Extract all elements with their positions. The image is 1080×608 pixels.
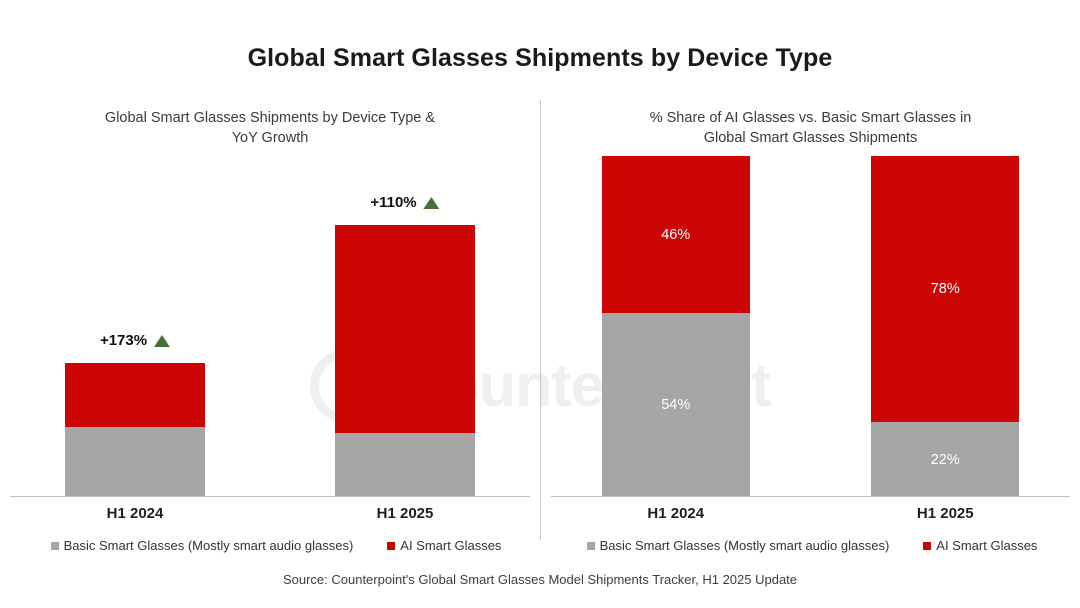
up-triangle-icon bbox=[154, 335, 170, 347]
bar-label-basic-share-2025: 22% bbox=[931, 452, 960, 468]
plot-area-shipments: +173% +110% bbox=[0, 145, 540, 497]
legend-shipments: Basic Smart Glasses (Mostly smart audio … bbox=[0, 538, 544, 553]
x-axis-line-share bbox=[551, 496, 1070, 497]
bar-segment-basic-2024[interactable] bbox=[65, 427, 205, 497]
x-axis-label-share-2024: H1 2024 bbox=[541, 505, 811, 522]
x-axis-label-2024: H1 2024 bbox=[0, 505, 270, 522]
up-triangle-icon bbox=[424, 197, 440, 209]
stacked-bar-share-2024[interactable]: 46% 54% bbox=[602, 156, 750, 497]
bar-segment-basic-2025[interactable] bbox=[335, 433, 475, 497]
growth-value-2025: +110% bbox=[370, 194, 416, 211]
chart-subtitle-shipments: Global Smart Glasses Shipments by Device… bbox=[24, 108, 516, 148]
bar-segment-ai-2024[interactable] bbox=[65, 363, 205, 427]
legend-share: Basic Smart Glasses (Mostly smart audio … bbox=[544, 538, 1080, 553]
bar-slot-share-h1-2025: 78% 22% bbox=[811, 145, 1080, 497]
legend-item-ai[interactable]: AI Smart Glasses bbox=[387, 538, 501, 553]
bar-label-basic-share-2024: 54% bbox=[661, 397, 690, 413]
plot-area-share: 46% 54% 78% 2 bbox=[541, 145, 1080, 497]
bar-segment-ai-share-2025[interactable]: 78% bbox=[871, 156, 1019, 422]
legend-label-ai: AI Smart Glasses bbox=[936, 538, 1037, 553]
bar-segment-basic-share-2025[interactable]: 22% bbox=[871, 422, 1019, 497]
stacked-bar-2024[interactable] bbox=[65, 363, 205, 497]
bar-slot-share-h1-2024: 46% 54% bbox=[541, 145, 811, 497]
legend-label-basic: Basic Smart Glasses (Mostly smart audio … bbox=[600, 538, 890, 553]
bar-label-ai-share-2025: 78% bbox=[931, 281, 960, 297]
chart-page: Counterpoint Global Smart Glasses Shipme… bbox=[0, 0, 1080, 608]
legends-container: Basic Smart Glasses (Mostly smart audio … bbox=[0, 538, 1080, 553]
bar-group-share: 46% 54% 78% 2 bbox=[541, 145, 1080, 497]
legend-swatch-ai-icon bbox=[387, 542, 395, 550]
page-title: Global Smart Glasses Shipments by Device… bbox=[0, 44, 1080, 73]
legend-label-ai: AI Smart Glasses bbox=[400, 538, 501, 553]
bar-slot-h1-2024: +173% bbox=[0, 145, 270, 497]
bar-slot-h1-2025: +110% bbox=[270, 145, 540, 497]
chart-subtitle-line1: % Share of AI Glasses vs. Basic Smart Gl… bbox=[565, 108, 1056, 128]
charts-container: Global Smart Glasses Shipments by Device… bbox=[0, 100, 1080, 540]
x-axis-label-share-2025: H1 2025 bbox=[811, 505, 1080, 522]
stacked-bar-2025[interactable] bbox=[335, 225, 475, 497]
chart-subtitle-share: % Share of AI Glasses vs. Basic Smart Gl… bbox=[565, 108, 1056, 148]
source-note: Source: Counterpoint's Global Smart Glas… bbox=[0, 572, 1080, 587]
x-axis-line-shipments bbox=[10, 496, 530, 497]
bar-label-ai-share-2024: 46% bbox=[661, 227, 690, 243]
chart-panel-share: % Share of AI Glasses vs. Basic Smart Gl… bbox=[540, 100, 1080, 540]
bar-segment-ai-share-2024[interactable]: 46% bbox=[602, 156, 750, 313]
growth-label-2024: +173% bbox=[100, 332, 170, 349]
legend-label-basic: Basic Smart Glasses (Mostly smart audio … bbox=[64, 538, 354, 553]
stacked-bar-share-2025[interactable]: 78% 22% bbox=[871, 156, 1019, 497]
chart-subtitle-line1: Global Smart Glasses Shipments by Device… bbox=[24, 108, 516, 128]
legend-item-basic[interactable]: Basic Smart Glasses (Mostly smart audio … bbox=[51, 538, 354, 553]
legend-swatch-ai-icon bbox=[923, 542, 931, 550]
x-axis-label-2025: H1 2025 bbox=[270, 505, 540, 522]
x-axis-labels-shipments: H1 2024 H1 2025 bbox=[0, 505, 540, 522]
legend-swatch-basic-icon bbox=[51, 542, 59, 550]
legend-item-ai[interactable]: AI Smart Glasses bbox=[923, 538, 1037, 553]
growth-label-2025: +110% bbox=[370, 194, 439, 211]
chart-panel-shipments: Global Smart Glasses Shipments by Device… bbox=[0, 100, 540, 540]
bar-group-shipments: +173% +110% bbox=[0, 145, 540, 497]
bar-segment-basic-share-2024[interactable]: 54% bbox=[602, 313, 750, 497]
bar-segment-ai-2025[interactable] bbox=[335, 225, 475, 433]
legend-swatch-basic-icon bbox=[587, 542, 595, 550]
growth-value-2024: +173% bbox=[100, 332, 147, 349]
x-axis-labels-share: H1 2024 H1 2025 bbox=[541, 505, 1080, 522]
legend-item-basic[interactable]: Basic Smart Glasses (Mostly smart audio … bbox=[587, 538, 890, 553]
